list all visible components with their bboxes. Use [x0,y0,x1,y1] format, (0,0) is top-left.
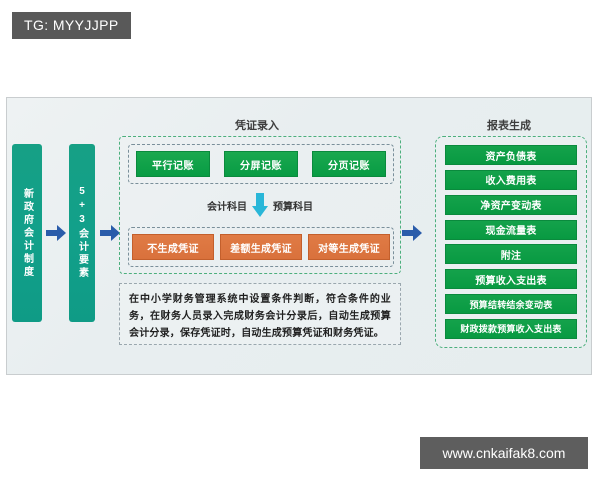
tg-tag: TG: MYYJJPP [12,12,131,39]
report-section-title: 报表生成 [487,117,531,133]
method-button[interactable]: 分屏记账 [224,151,298,177]
right-arrow-icon-2 [99,223,121,243]
report-generation-container: 资产负债表 收入费用表 净资产变动表 现金流量表 附注 预算收入支出表 预算结转… [435,136,587,348]
bookkeeping-methods-group: 平行记账 分屏记账 分页记账 [128,144,394,184]
stage2-label: 5+3会计要素 [75,186,90,280]
right-arrow-icon-3 [401,223,423,243]
stage1-label: 新政府会计制度 [20,188,35,279]
report-item[interactable]: 现金流量表 [445,220,577,240]
stage-accounting-elements: 5+3会计要素 [69,144,95,322]
generation-button[interactable]: 对等生成凭证 [308,234,390,260]
voucher-section-title: 凭证录入 [235,117,279,133]
report-item[interactable]: 资产负债表 [445,145,577,165]
report-item[interactable]: 预算结转结余变动表 [445,294,577,314]
budget-subject-label: 预算科目 [273,198,313,213]
flow-diagram-panel: 新政府会计制度 5+3会计要素 凭证录入 平行记账 分屏记账 分页记账 不生成凭… [6,97,592,375]
report-item[interactable]: 预算收入支出表 [445,269,577,289]
generation-button[interactable]: 差额生成凭证 [220,234,302,260]
generation-button[interactable]: 不生成凭证 [132,234,214,260]
stage-new-gov-accounting-system: 新政府会计制度 [12,144,42,322]
report-item[interactable]: 财政拨款预算收入支出表 [445,319,577,339]
method-button[interactable]: 分页记账 [312,151,386,177]
subject-mapping-row: 会计科目 预算科目 [119,190,401,220]
site-watermark: www.cnkaifak8.com [420,437,588,469]
report-item[interactable]: 收入费用表 [445,170,577,190]
report-item[interactable]: 附注 [445,244,577,264]
method-button[interactable]: 平行记账 [136,151,210,177]
report-item[interactable]: 净资产变动表 [445,195,577,215]
voucher-note-text: 在中小学财务管理系统中设置条件判断，符合条件的业务，在财务人员录入完成财务会计分… [119,283,401,345]
voucher-generation-group: 不生成凭证 差额生成凭证 对等生成凭证 [128,227,394,267]
right-arrow-icon-1 [45,223,67,243]
accounting-subject-label: 会计科目 [207,198,247,213]
down-arrow-icon [251,192,269,218]
